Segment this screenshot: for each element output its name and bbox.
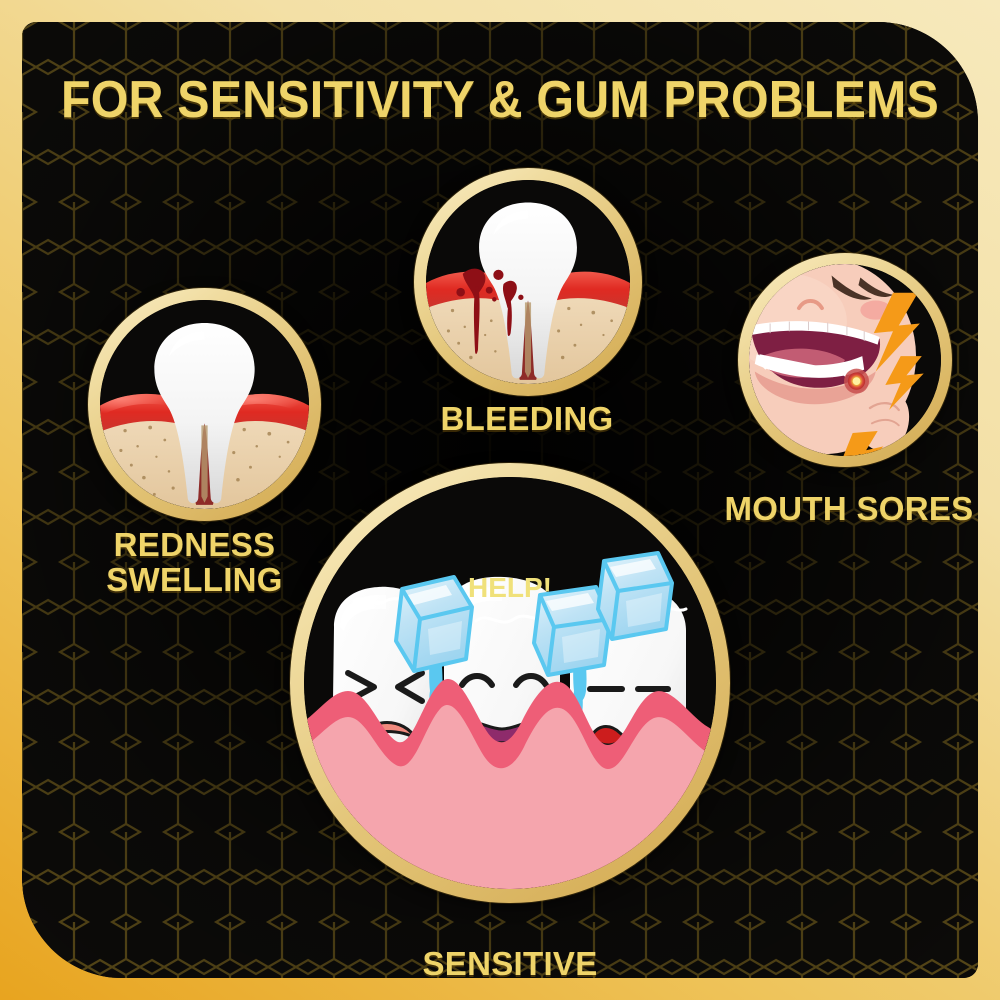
ice-cube-right <box>598 553 672 639</box>
badge-image-mouth-sores <box>749 264 941 456</box>
condition-label-bleeding: BLEEDING <box>352 402 702 437</box>
condition-badge-mouth-sores[interactable] <box>738 253 952 467</box>
condition-badge-bleeding[interactable] <box>414 168 642 396</box>
inflamed-gum-tooth-icon <box>100 300 309 509</box>
condition-label-sensitive: SENSITIVE <box>290 947 730 978</box>
condition-badge-redness-swelling[interactable] <box>88 288 321 521</box>
badge-image-bleeding <box>426 180 630 384</box>
poster-canvas: FOR SENSITIVITY & GUM PROBLEMS <box>0 0 1000 1000</box>
bleeding-gum-tooth-icon <box>426 180 630 384</box>
page-title: FOR SENSITIVITY & GUM PROBLEMS <box>55 70 944 130</box>
condition-label-mouth-sores: MOUTH SORES <box>694 492 978 527</box>
badge-image-sensitive: HELP! <box>304 477 716 889</box>
sensitive-teeth-ice-icon: HELP! <box>304 477 716 889</box>
ice-cube-left <box>396 577 472 671</box>
content-panel: FOR SENSITIVITY & GUM PROBLEMS <box>22 22 978 978</box>
badge-image-redness <box>100 300 309 509</box>
condition-badge-sensitive[interactable]: HELP! <box>290 463 730 903</box>
mouth-ulcer-pain-icon <box>749 264 941 456</box>
